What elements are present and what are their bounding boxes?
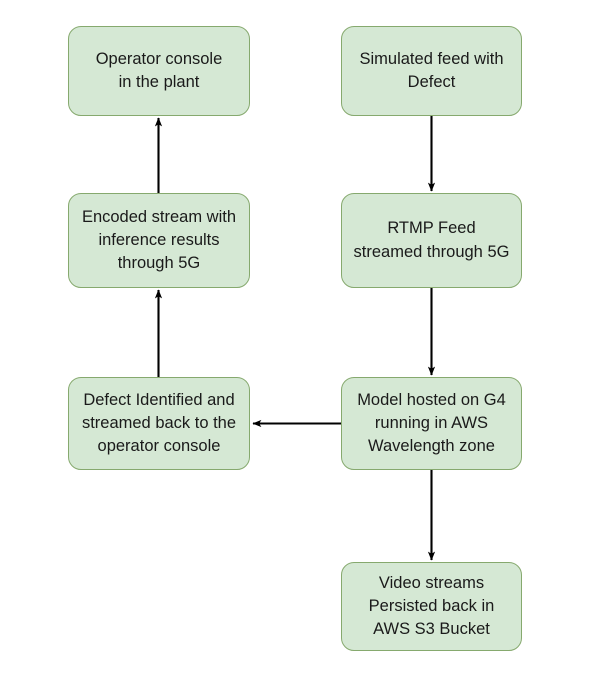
node-model-hosted-label: Model hosted on G4 running in AWS Wavele… xyxy=(349,389,514,458)
node-encoded-stream[interactable]: Encoded stream with inference results th… xyxy=(68,193,250,288)
node-defect-identified-label: Defect Identified and streamed back to t… xyxy=(74,389,244,458)
node-rtmp-feed-label: RTMP Feed streamed through 5G xyxy=(346,217,518,263)
flowchart-canvas: Operator console in the plant Simulated … xyxy=(0,0,605,683)
node-encoded-stream-label: Encoded stream with inference results th… xyxy=(74,206,244,275)
node-operator-console-label: Operator console in the plant xyxy=(88,48,231,94)
node-simulated-feed[interactable]: Simulated feed with Defect xyxy=(341,26,522,116)
node-rtmp-feed[interactable]: RTMP Feed streamed through 5G xyxy=(341,193,522,288)
node-simulated-feed-label: Simulated feed with Defect xyxy=(352,48,512,94)
node-defect-identified[interactable]: Defect Identified and streamed back to t… xyxy=(68,377,250,470)
node-model-hosted[interactable]: Model hosted on G4 running in AWS Wavele… xyxy=(341,377,522,470)
node-video-streams[interactable]: Video streams Persisted back in AWS S3 B… xyxy=(341,562,522,651)
node-operator-console[interactable]: Operator console in the plant xyxy=(68,26,250,116)
node-video-streams-label: Video streams Persisted back in AWS S3 B… xyxy=(361,572,503,641)
